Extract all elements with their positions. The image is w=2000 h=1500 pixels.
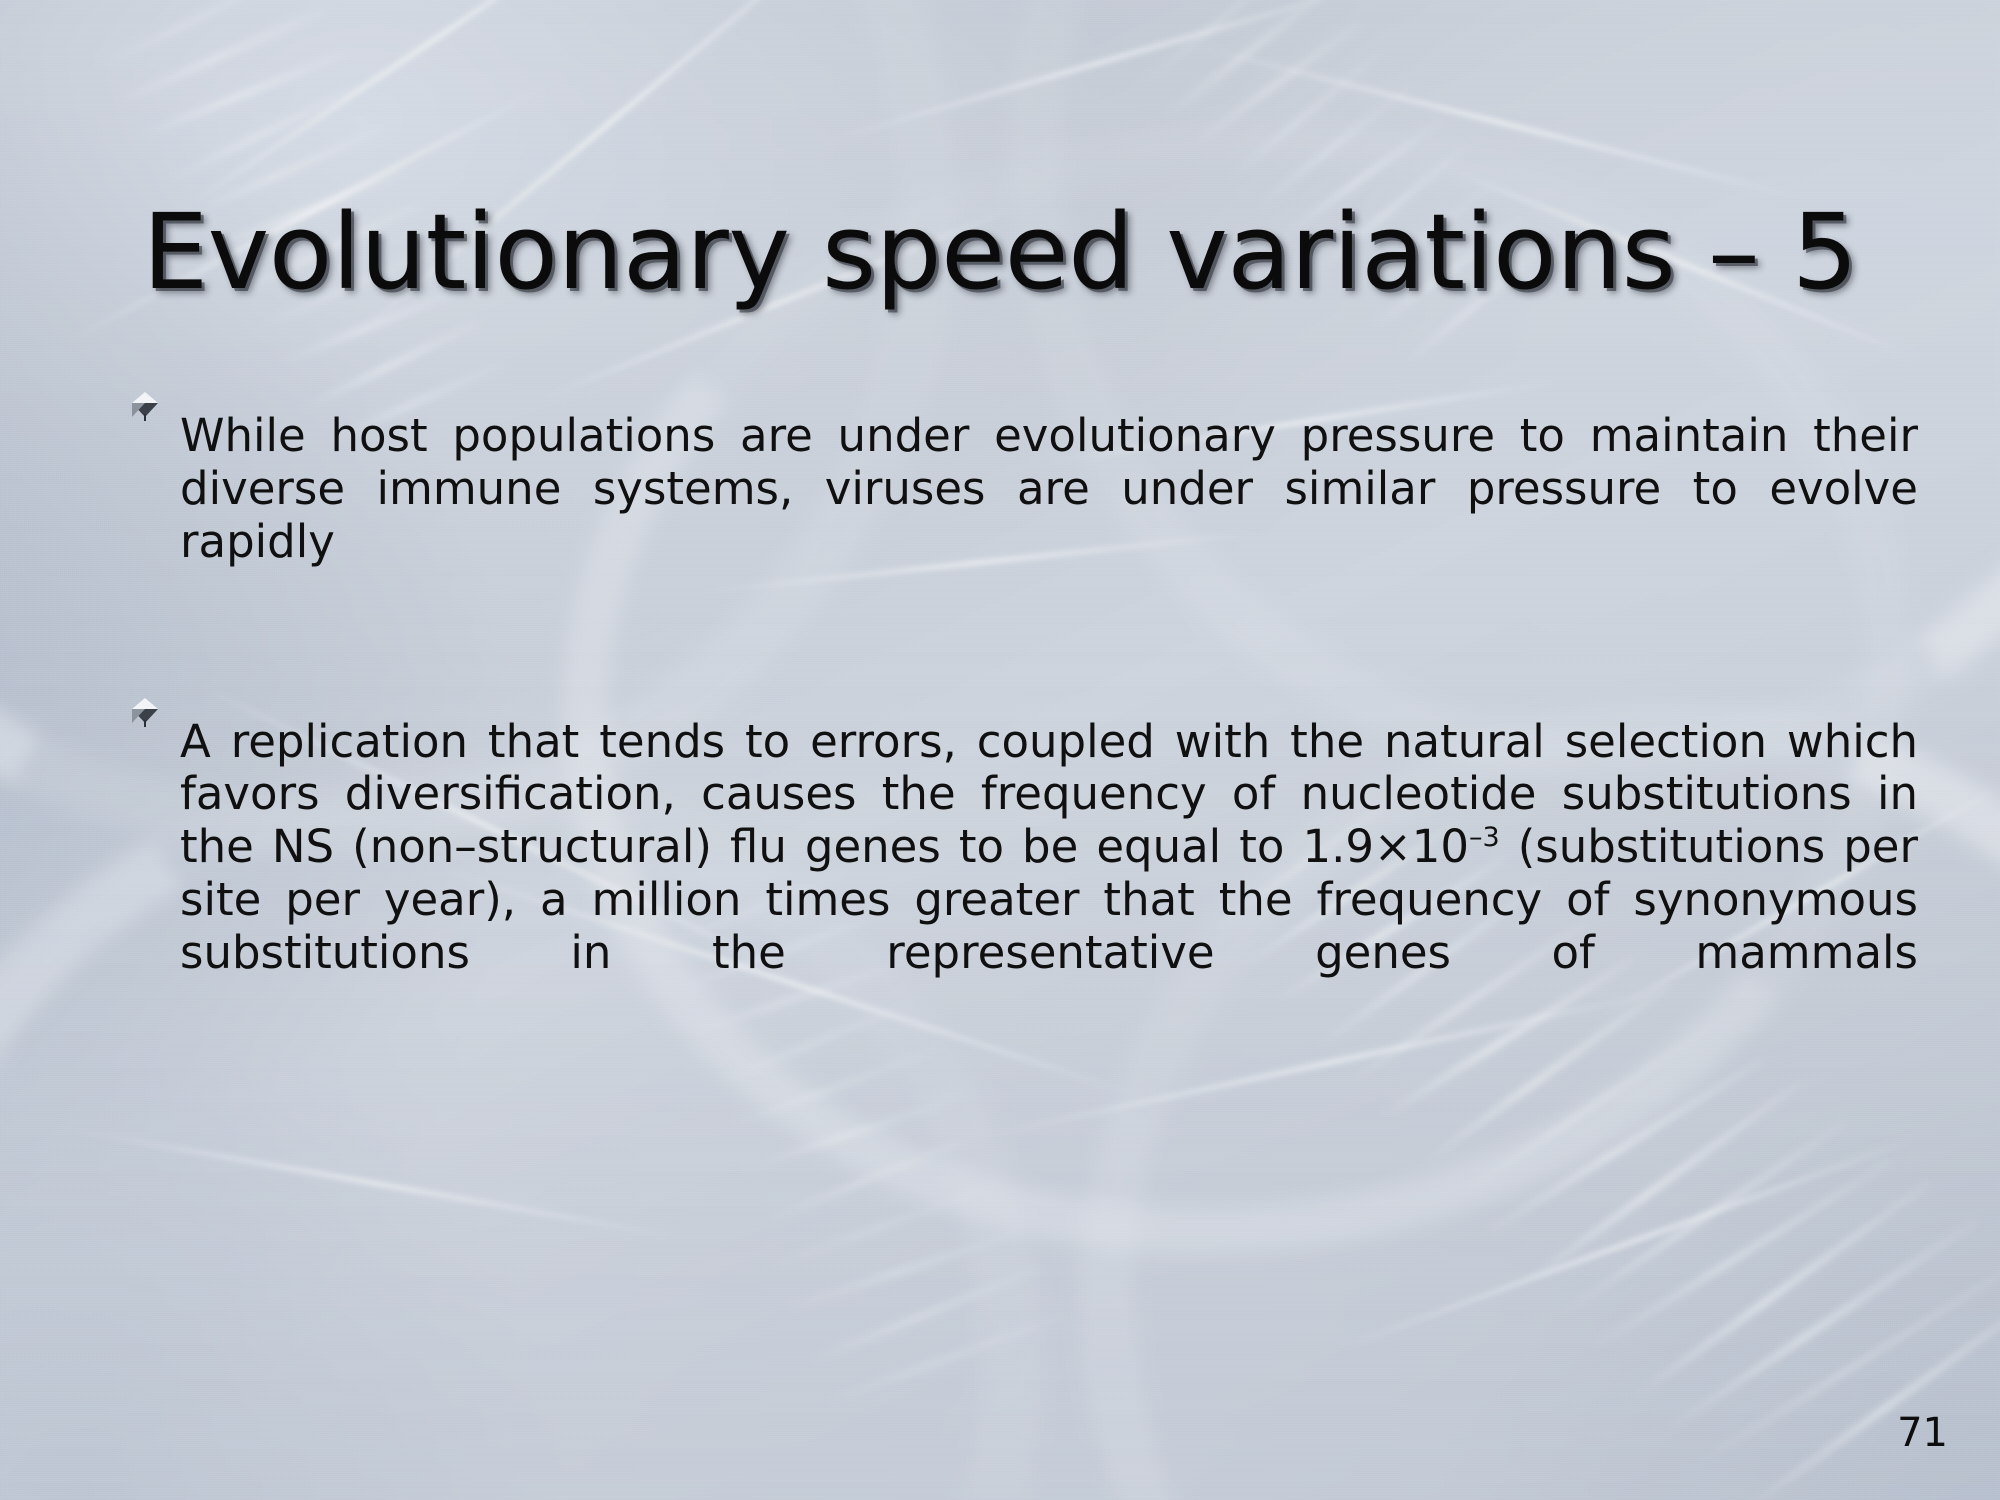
diamond-arrow-bullet-icon	[128, 693, 162, 727]
dna-filament-stroke	[1189, 43, 1811, 203]
bullet-text: While host populations are under evoluti…	[180, 410, 1918, 622]
presentation-slide: Evolutionary speed variations – 5 While …	[0, 0, 2000, 1500]
bullet-text-segment: While host populations are under evoluti…	[180, 409, 1918, 568]
exponent-superscript: –3	[1469, 822, 1500, 853]
diamond-arrow-bullet-icon	[128, 387, 162, 421]
slide-page-number: 71	[1897, 1410, 1948, 1456]
bullet-item: A replication that tends to errors, coup…	[128, 671, 1918, 1078]
slide-body-content: While host populations are under evoluti…	[128, 365, 1918, 1082]
dna-filament-stroke	[172, 0, 689, 218]
dna-filament-stroke	[830, 0, 1370, 142]
dna-filament-stroke	[1338, 1134, 1922, 1351]
bullet-text: A replication that tends to errors, coup…	[180, 716, 1918, 1033]
dna-filament-stroke	[64, 1126, 675, 1239]
bullet-item: While host populations are under evoluti…	[128, 365, 1918, 667]
slide-title: Evolutionary speed variations – 5	[0, 198, 2000, 307]
